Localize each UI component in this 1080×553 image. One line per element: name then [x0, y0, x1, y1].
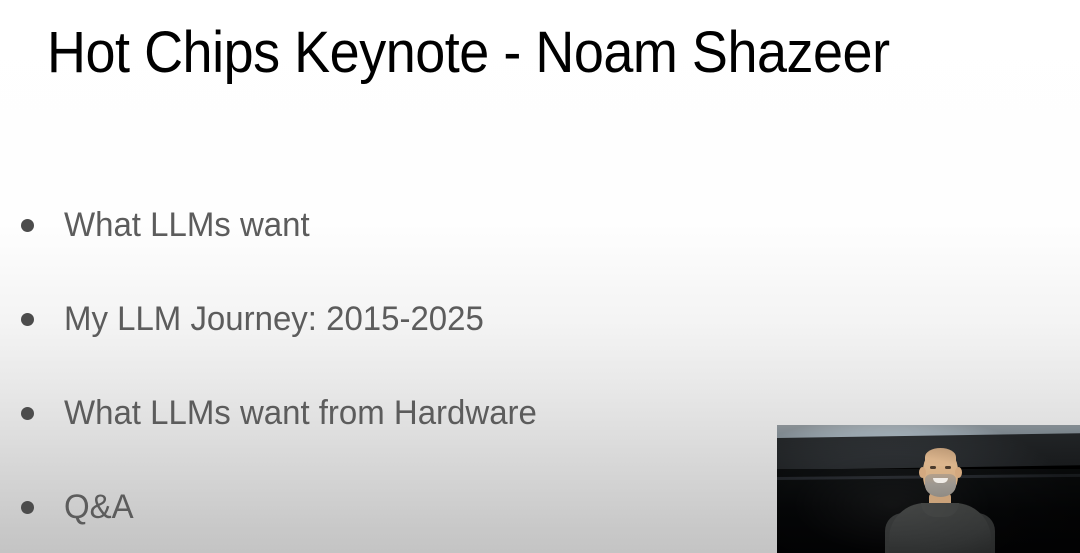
bullet-label: What LLMs want — [64, 205, 310, 245]
bullet-item-what-llms-want: What LLMs want — [0, 178, 780, 272]
bullet-dot-icon — [21, 219, 34, 232]
slide-title: Hot Chips Keynote - Noam Shazeer — [47, 17, 968, 89]
presentation-slide: Hot Chips Keynote - Noam Shazeer What LL… — [0, 0, 1080, 553]
bullet-dot-icon — [21, 407, 34, 420]
bullet-item-my-llm-journey: My LLM Journey: 2015-2025 — [0, 272, 780, 366]
bullet-label: My LLM Journey: 2015-2025 — [64, 299, 484, 339]
speaker-eye-left — [930, 466, 936, 469]
bullet-dot-icon — [21, 501, 34, 514]
slide-bullet-list: What LLMs want My LLM Journey: 2015-2025… — [0, 178, 780, 553]
bullet-label: What LLMs want from Hardware — [64, 393, 537, 433]
speaker-eye-right — [945, 466, 951, 469]
speaker-figure — [885, 443, 995, 553]
speaker-ear-right — [955, 467, 962, 478]
bullet-item-qa: Q&A — [0, 460, 780, 553]
speaker-scalp — [925, 448, 956, 466]
speaker-video-overlay[interactable] — [777, 425, 1080, 553]
bullet-item-what-llms-want-from-hardware: What LLMs want from Hardware — [0, 366, 780, 460]
bullet-label: Q&A — [64, 487, 134, 527]
bullet-dot-icon — [21, 313, 34, 326]
